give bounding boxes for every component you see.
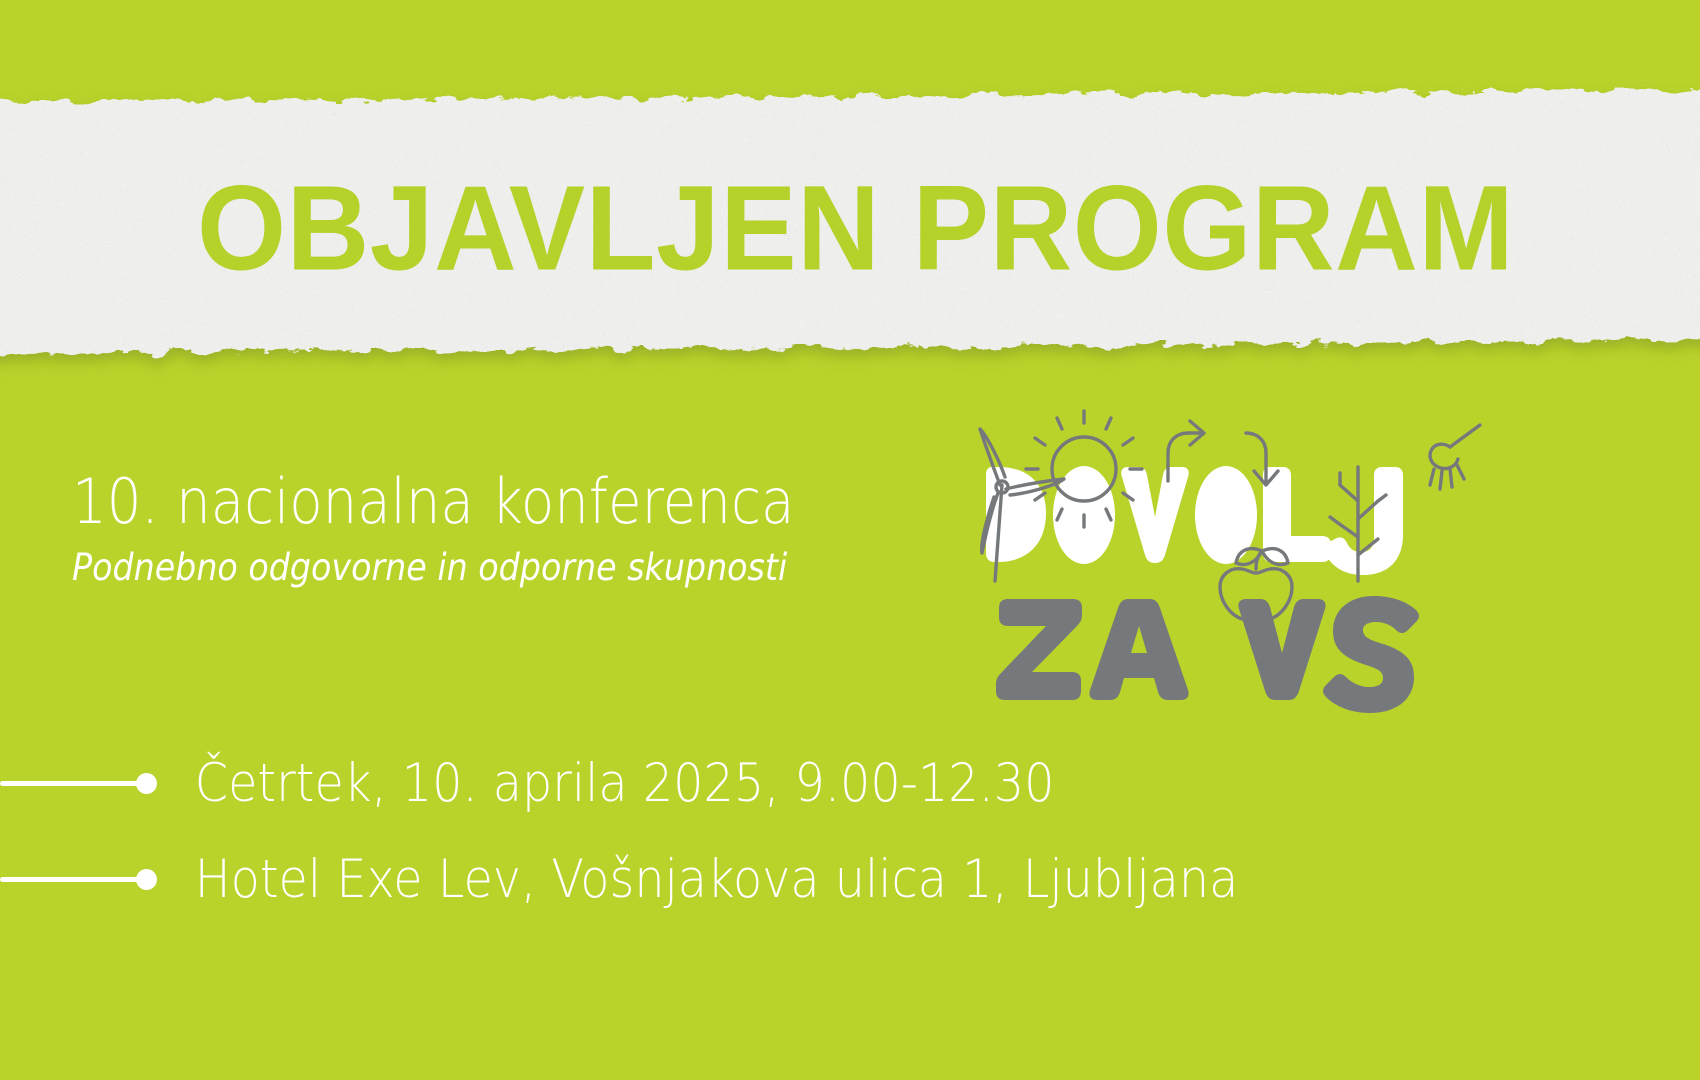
bullet-dot-icon [0,869,166,889]
event-details-list: Četrtek, 10. aprila 2025, 9.00-12.30 Hot… [0,735,1700,927]
list-item: Četrtek, 10. aprila 2025, 9.00-12.30 [0,735,1700,831]
logo-word-za-vse [996,596,1419,713]
bullet-dot [136,869,157,890]
torn-paper-strip [0,88,1700,368]
bullet-line [0,781,148,786]
bullet-line [0,877,148,882]
promo-banner: OBJAVLJEN PROGRAM 10. nacionalna konfere… [0,0,1700,1080]
conference-subtitle: Podnebno odgovorne in odporne skupnosti [72,548,811,589]
watering-sprinkler-icon [1430,425,1480,489]
conference-title: 10. nacionalna konferenca [72,470,794,534]
list-item: Hotel Exe Lev, Vošnjakova ulica 1, Ljubl… [0,831,1700,927]
bullet-dot-icon [0,773,166,793]
event-venue: Hotel Exe Lev, Vošnjakova ulica 1, Ljubl… [166,853,1238,906]
bullet-dot [136,773,157,794]
conference-title-block: 10. nacionalna konferenca Podnebno odgov… [72,470,893,589]
dovolj-za-vse-logo [950,385,1510,715]
event-datetime: Četrtek, 10. aprila 2025, 9.00-12.30 [166,757,1054,810]
